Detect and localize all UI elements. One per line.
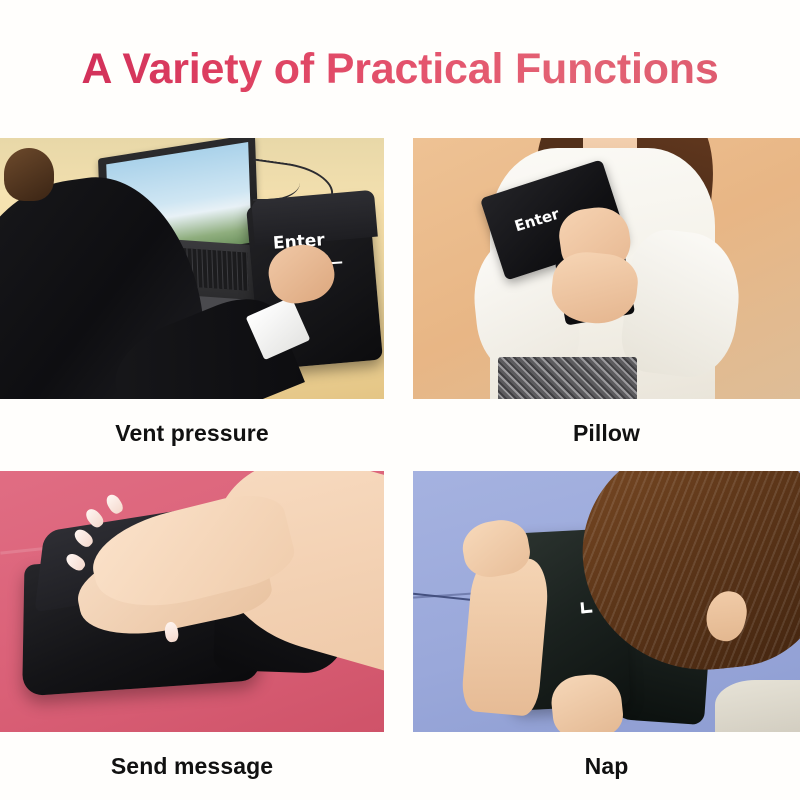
photo-vent-pressure: Enter bbox=[0, 138, 384, 399]
photo-pillow: Enter bbox=[413, 138, 800, 399]
feature-card-nap: Enter Nap bbox=[413, 471, 800, 800]
feature-card-send-message: E Send message bbox=[0, 471, 384, 800]
photo-nap: Enter bbox=[413, 471, 800, 732]
woman-forearm bbox=[460, 554, 551, 717]
tweed-skirt bbox=[498, 357, 637, 399]
man-head bbox=[4, 148, 54, 200]
photo-send-message: E bbox=[0, 471, 384, 732]
product-infographic: A Variety of Practical Functions Enter bbox=[0, 0, 800, 800]
caption-nap: Nap bbox=[413, 732, 800, 800]
fingernail bbox=[103, 493, 125, 517]
page-title: A Variety of Practical Functions bbox=[0, 33, 800, 105]
caption-pillow: Pillow bbox=[413, 399, 800, 467]
woman-shoulder bbox=[715, 680, 800, 732]
feature-card-pillow: Enter Pillow bbox=[413, 138, 800, 467]
feature-grid: Enter Vent pressure Enter bbox=[0, 138, 800, 738]
caption-send-message: Send message bbox=[0, 732, 384, 800]
enter-arrow-head-icon bbox=[581, 601, 593, 613]
caption-vent-pressure: Vent pressure bbox=[0, 399, 384, 467]
page-title-text: A Variety of Practical Functions bbox=[81, 45, 718, 94]
feature-card-vent-pressure: Enter Vent pressure bbox=[0, 138, 384, 467]
